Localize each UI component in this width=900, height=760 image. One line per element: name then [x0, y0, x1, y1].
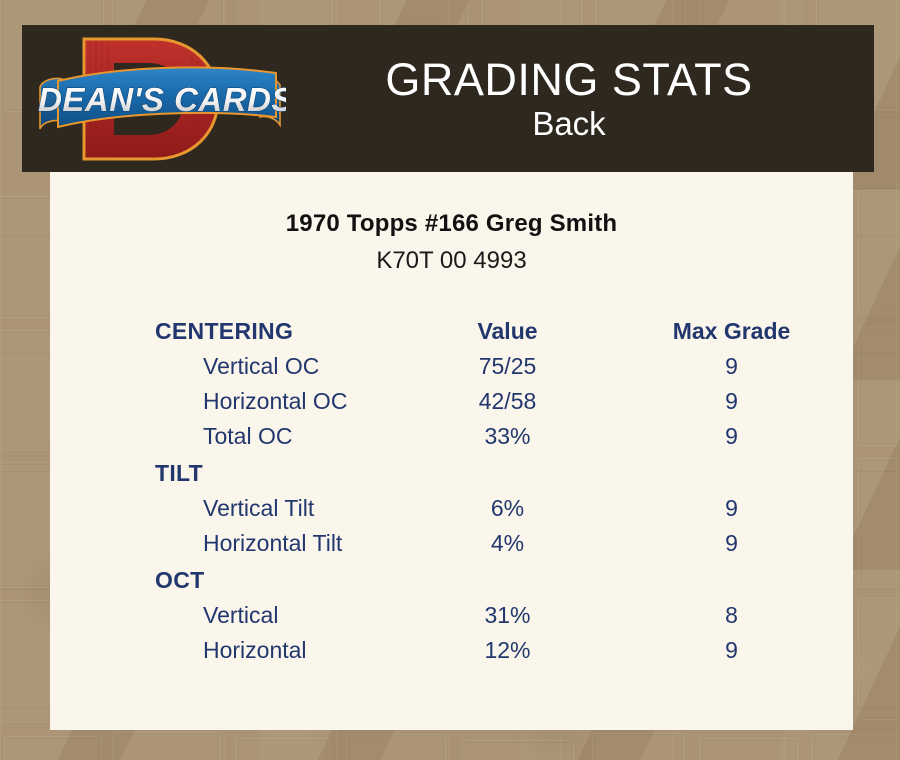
row-max-grade: 9 — [610, 491, 853, 526]
card-title: 1970 Topps #166 Greg Smith — [50, 210, 853, 238]
grading-stats-table: CENTERING Value Max Grade Vertical OC 75… — [50, 312, 853, 668]
page-subtitle: Back — [292, 107, 846, 142]
row-value: 31% — [405, 598, 610, 633]
header-title-group: GRADING STATS Back — [292, 56, 874, 142]
section-title-centering: CENTERING — [50, 312, 405, 349]
row-value: 12% — [405, 633, 610, 668]
column-header-value: Value — [405, 312, 610, 349]
page-title: GRADING STATS — [292, 56, 846, 103]
table-row: Vertical OC 75/25 9 — [50, 349, 853, 384]
row-value: 4% — [405, 526, 610, 561]
row-value: 6% — [405, 491, 610, 526]
grading-stats-body: CENTERING Value Max Grade Vertical OC 75… — [50, 312, 853, 668]
row-label: Total OC — [50, 419, 405, 454]
page-header: DEAN'S CARDS DEAN'S CARDS GRADING STATS … — [22, 25, 874, 172]
section-spacer — [610, 454, 853, 491]
section-spacer — [405, 561, 610, 598]
row-label: Vertical OC — [50, 349, 405, 384]
logo-container[interactable]: DEAN'S CARDS DEAN'S CARDS — [22, 25, 292, 172]
grading-stats-page: DEAN'S CARDS DEAN'S CARDS GRADING STATS … — [0, 0, 900, 760]
table-row: Vertical 31% 8 — [50, 598, 853, 633]
column-header-max-grade: Max Grade — [610, 312, 853, 349]
section-title-tilt: TILT — [50, 454, 405, 491]
row-max-grade: 9 — [610, 349, 853, 384]
content-panel: 1970 Topps #166 Greg Smith K70T 00 4993 … — [50, 172, 853, 730]
row-value: 33% — [405, 419, 610, 454]
section-title-oct: OCT — [50, 561, 405, 598]
section-spacer — [405, 454, 610, 491]
section-spacer — [610, 561, 853, 598]
row-max-grade: 9 — [610, 526, 853, 561]
table-row: Total OC 33% 9 — [50, 419, 853, 454]
table-row: Horizontal OC 42/58 9 — [50, 384, 853, 419]
table-row: Horizontal Tilt 4% 9 — [50, 526, 853, 561]
table-section-header-row: CENTERING Value Max Grade — [50, 312, 853, 349]
table-section-header-row: OCT — [50, 561, 853, 598]
deans-cards-logo-icon: DEAN'S CARDS — [36, 29, 286, 169]
row-max-grade: 9 — [610, 633, 853, 668]
table-section-header-row: TILT — [50, 454, 853, 491]
row-value: 42/58 — [405, 384, 610, 419]
logo-banner-text: DEAN'S CARDS — [38, 81, 286, 118]
row-label: Horizontal — [50, 633, 405, 668]
row-label: Vertical — [50, 598, 405, 633]
row-max-grade: 9 — [610, 384, 853, 419]
table-row: Horizontal 12% 9 — [50, 633, 853, 668]
row-value: 75/25 — [405, 349, 610, 384]
row-max-grade: 8 — [610, 598, 853, 633]
row-label: Horizontal OC — [50, 384, 405, 419]
row-label: Horizontal Tilt — [50, 526, 405, 561]
row-max-grade: 9 — [610, 419, 853, 454]
table-row: Vertical Tilt 6% 9 — [50, 491, 853, 526]
card-serial-number: K70T 00 4993 — [50, 247, 853, 275]
row-label: Vertical Tilt — [50, 491, 405, 526]
